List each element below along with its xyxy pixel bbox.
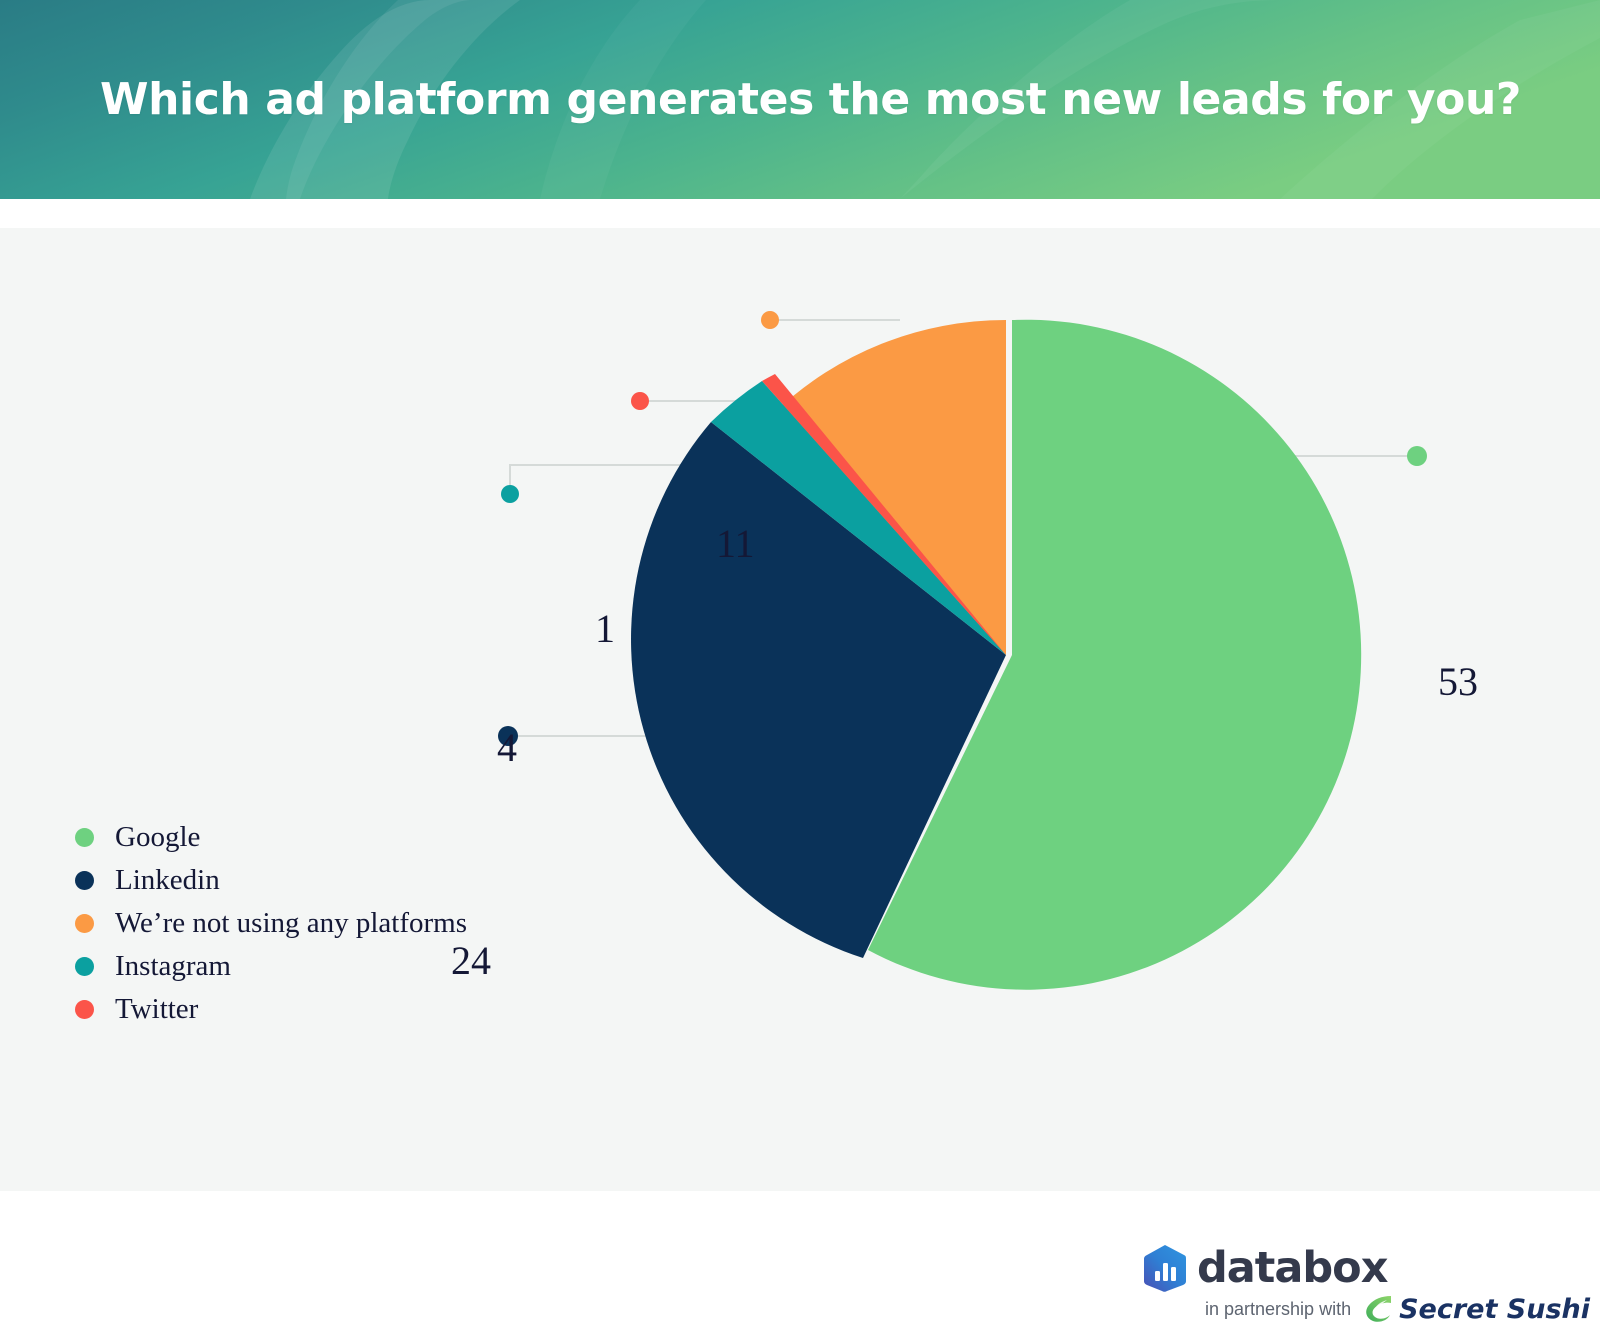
callout-dot-not-using bbox=[761, 311, 779, 329]
callout-value-twitter: 1 bbox=[595, 609, 615, 649]
chart-legend: Google Linkedin We’re not using any plat… bbox=[75, 816, 467, 1031]
legend-label: Linkedin bbox=[115, 866, 220, 895]
partnership-text: in partnership with bbox=[1205, 1300, 1351, 1318]
callout-value-instagram: 4 bbox=[497, 728, 517, 768]
legend-label: We’re not using any platforms bbox=[115, 909, 467, 938]
legend-item-twitter[interactable]: Twitter bbox=[75, 988, 467, 1031]
branding-block: databox in partnership with Secret Sushi bbox=[1143, 1244, 1513, 1316]
databox-hexagon-icon bbox=[1143, 1244, 1187, 1292]
page-header: Which ad platform generates the most new… bbox=[0, 0, 1600, 199]
legend-item-google[interactable]: Google bbox=[75, 816, 467, 859]
legend-swatch-icon bbox=[75, 914, 94, 933]
legend-swatch-icon bbox=[75, 828, 94, 847]
chart-area: 53 11 1 4 24 Google Linkedin We’re not u… bbox=[0, 228, 1600, 1191]
databox-logo[interactable]: databox bbox=[1143, 1244, 1387, 1292]
legend-swatch-icon bbox=[75, 871, 94, 890]
secret-sushi-wordmark: Secret Sushi bbox=[1399, 1296, 1590, 1323]
legend-item-instagram[interactable]: Instagram bbox=[75, 945, 467, 988]
callout-dot-google bbox=[1407, 446, 1427, 466]
page-title: Which ad platform generates the most new… bbox=[100, 0, 1521, 199]
callout-value-not-using: 11 bbox=[716, 524, 755, 564]
pie-chart bbox=[0, 228, 1600, 1191]
partnership-line: in partnership with Secret Sushi bbox=[1205, 1294, 1590, 1324]
legend-label: Google bbox=[115, 823, 200, 852]
callout-dot-instagram bbox=[501, 485, 519, 503]
databox-wordmark: databox bbox=[1197, 1247, 1387, 1290]
callout-dot-twitter bbox=[631, 392, 649, 410]
legend-swatch-icon bbox=[75, 957, 94, 976]
legend-item-linkedin[interactable]: Linkedin bbox=[75, 859, 467, 902]
legend-label: Instagram bbox=[115, 952, 231, 981]
legend-swatch-icon bbox=[75, 1000, 94, 1019]
header-separator bbox=[0, 199, 1600, 228]
secret-sushi-leaf-icon bbox=[1362, 1294, 1394, 1324]
callout-value-google: 53 bbox=[1438, 662, 1478, 702]
legend-label: Twitter bbox=[115, 995, 198, 1024]
legend-item-not-using[interactable]: We’re not using any platforms bbox=[75, 902, 467, 945]
